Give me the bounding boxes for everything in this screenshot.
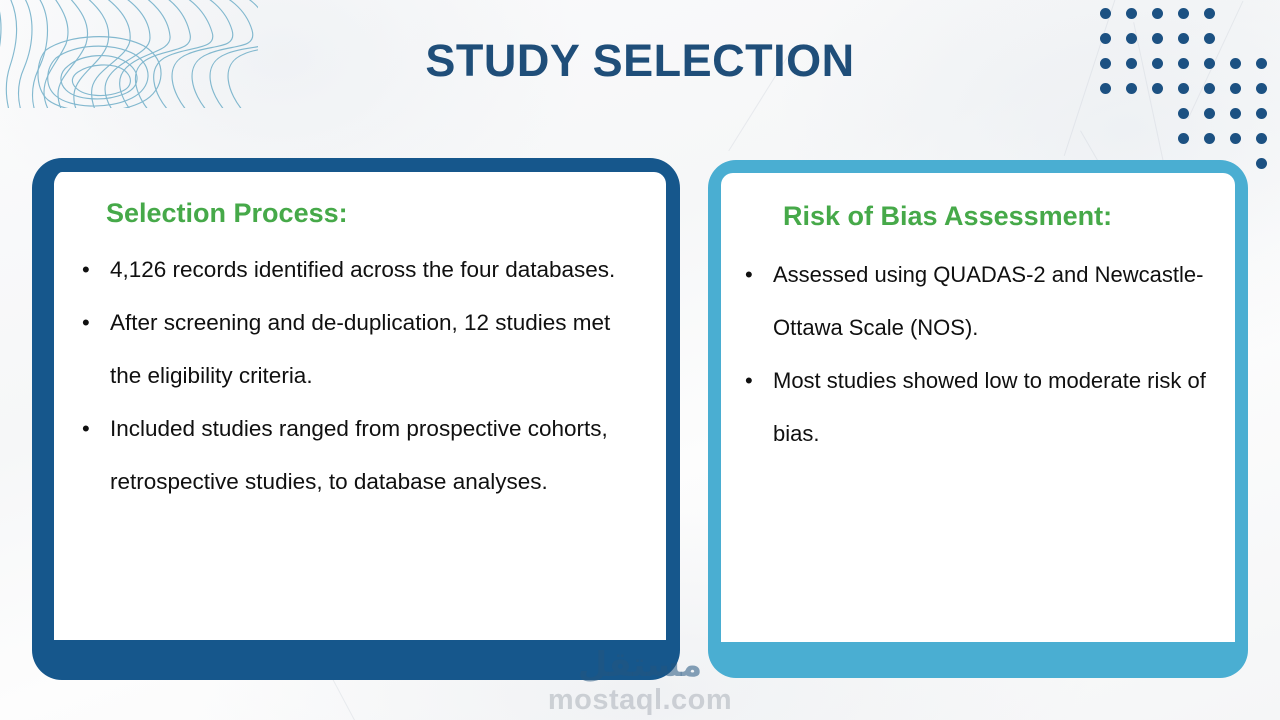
dot-grid-dot — [1204, 133, 1215, 144]
list-item-text: 4,126 records identified across the four… — [110, 257, 615, 282]
dot-grid-dot — [1256, 108, 1267, 119]
slide-canvas: STUDY SELECTION Selection Process: • 4,1… — [0, 0, 1280, 720]
card-selection-process: Selection Process: • 4,126 records ident… — [32, 158, 680, 680]
bullet-icon: • — [82, 296, 90, 349]
dot-grid-dot — [1178, 108, 1189, 119]
dot-grid-dot — [1178, 133, 1189, 144]
dot-grid-dot — [1152, 8, 1163, 19]
list-item-text: After screening and de-duplication, 12 s… — [110, 310, 610, 388]
dot-grid-dot — [1100, 8, 1111, 19]
list-item-text: Assessed using QUADAS-2 and Newcastle-Ot… — [773, 262, 1203, 340]
bullet-icon: • — [82, 402, 90, 455]
dot-grid-dot — [1204, 108, 1215, 119]
bullet-list-risk-of-bias: • Assessed using QUADAS-2 and Newcastle-… — [721, 232, 1235, 460]
list-item: • Most studies showed low to moderate ri… — [739, 354, 1219, 460]
dot-grid-dot — [1178, 8, 1189, 19]
dot-grid-dot — [1126, 8, 1137, 19]
card-heading-risk-of-bias-assessment: Risk of Bias Assessment: — [721, 173, 1235, 232]
card-risk-of-bias-assessment: Risk of Bias Assessment: • Assessed usin… — [708, 160, 1248, 678]
bullet-icon: • — [745, 248, 753, 301]
dot-grid-dot — [1256, 133, 1267, 144]
bullet-list-selection-process: • 4,126 records identified across the fo… — [54, 229, 666, 508]
list-item-text: Most studies showed low to moderate risk… — [773, 368, 1206, 446]
dot-grid-dot — [1230, 133, 1241, 144]
card-body: Risk of Bias Assessment: • Assessed usin… — [721, 173, 1235, 642]
bullet-icon: • — [745, 354, 753, 407]
page-title: STUDY SELECTION — [0, 35, 1280, 87]
bullet-icon: • — [82, 243, 90, 296]
dot-grid-dot — [1256, 158, 1267, 169]
list-item: • Assessed using QUADAS-2 and Newcastle-… — [739, 248, 1219, 354]
list-item: • After screening and de-duplication, 12… — [76, 296, 646, 402]
watermark-domain-text: mostaql.com — [0, 684, 1280, 716]
dot-grid-dot — [1230, 108, 1241, 119]
card-body: Selection Process: • 4,126 records ident… — [54, 172, 666, 640]
list-item-text: Included studies ranged from prospective… — [110, 416, 608, 494]
card-heading-selection-process: Selection Process: — [54, 172, 666, 229]
list-item: • Included studies ranged from prospecti… — [76, 402, 646, 508]
list-item: • 4,126 records identified across the fo… — [76, 243, 646, 296]
dot-grid-dot — [1204, 8, 1215, 19]
